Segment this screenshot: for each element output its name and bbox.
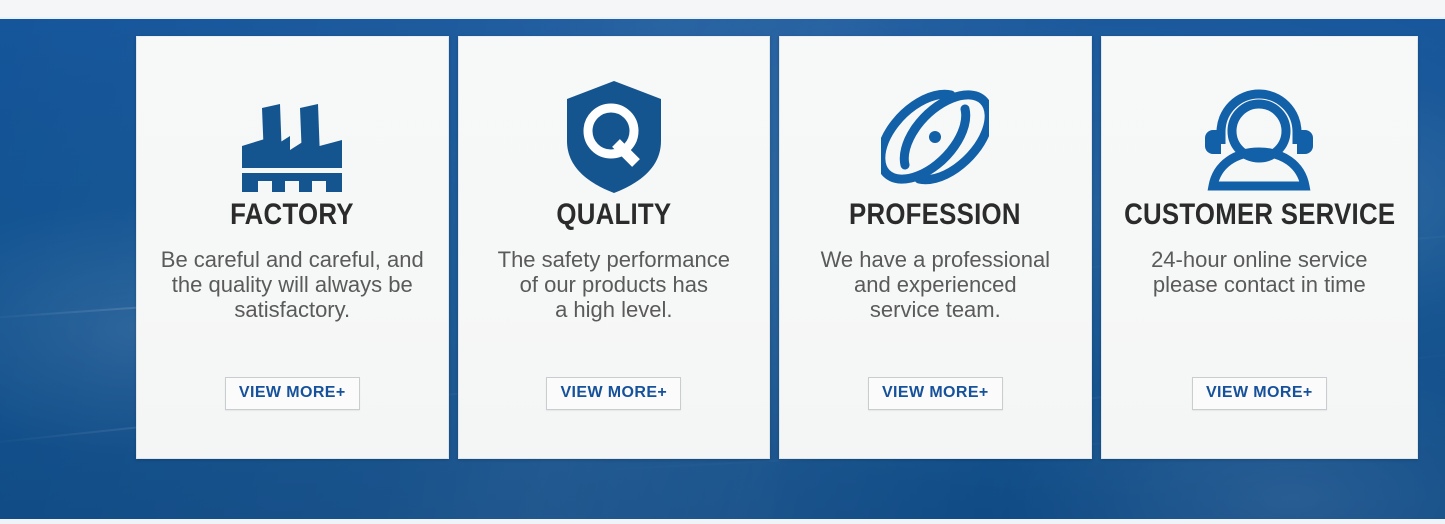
feature-card-quality[interactable]: QUALITY The safety performance of our pr… xyxy=(458,36,771,459)
top-white-strip xyxy=(0,0,1445,17)
card-title: CUSTOMER SERVICE xyxy=(1124,199,1395,231)
view-more-button[interactable]: VIEW MORE+ xyxy=(1192,377,1327,410)
view-more-button[interactable]: VIEW MORE+ xyxy=(225,377,360,410)
card-description: Be careful and careful, and the quality … xyxy=(147,247,438,322)
cta-wrapper: VIEW MORE+ xyxy=(225,377,360,410)
card-description: 24-hour online service please contact in… xyxy=(1137,247,1381,297)
card-title: QUALITY xyxy=(556,199,671,231)
card-title: FACTORY xyxy=(230,199,354,231)
cta-wrapper: VIEW MORE+ xyxy=(868,377,1003,410)
feature-card-list: FACTORY Be careful and careful, and the … xyxy=(136,36,1418,459)
atom-icon xyxy=(881,81,989,193)
headset-support-icon xyxy=(1203,81,1315,193)
bottom-light-strip xyxy=(0,519,1445,524)
feature-card-customer-service[interactable]: CUSTOMER SERVICE 24-hour online service … xyxy=(1101,36,1418,459)
view-more-button[interactable]: VIEW MORE+ xyxy=(868,377,1003,410)
card-description: We have a professional and experienced s… xyxy=(807,247,1065,322)
card-description: The safety performance of our products h… xyxy=(484,247,744,322)
feature-section: FACTORY Be careful and careful, and the … xyxy=(0,0,1445,524)
factory-icon xyxy=(238,81,346,193)
view-more-button[interactable]: VIEW MORE+ xyxy=(546,377,681,410)
feature-card-factory[interactable]: FACTORY Be careful and careful, and the … xyxy=(136,36,449,459)
card-title: PROFESSION xyxy=(849,199,1021,231)
cta-wrapper: VIEW MORE+ xyxy=(546,377,681,410)
feature-card-profession[interactable]: PROFESSION We have a professional and ex… xyxy=(779,36,1092,459)
cta-wrapper: VIEW MORE+ xyxy=(1192,377,1327,410)
shield-quality-icon xyxy=(564,81,664,193)
